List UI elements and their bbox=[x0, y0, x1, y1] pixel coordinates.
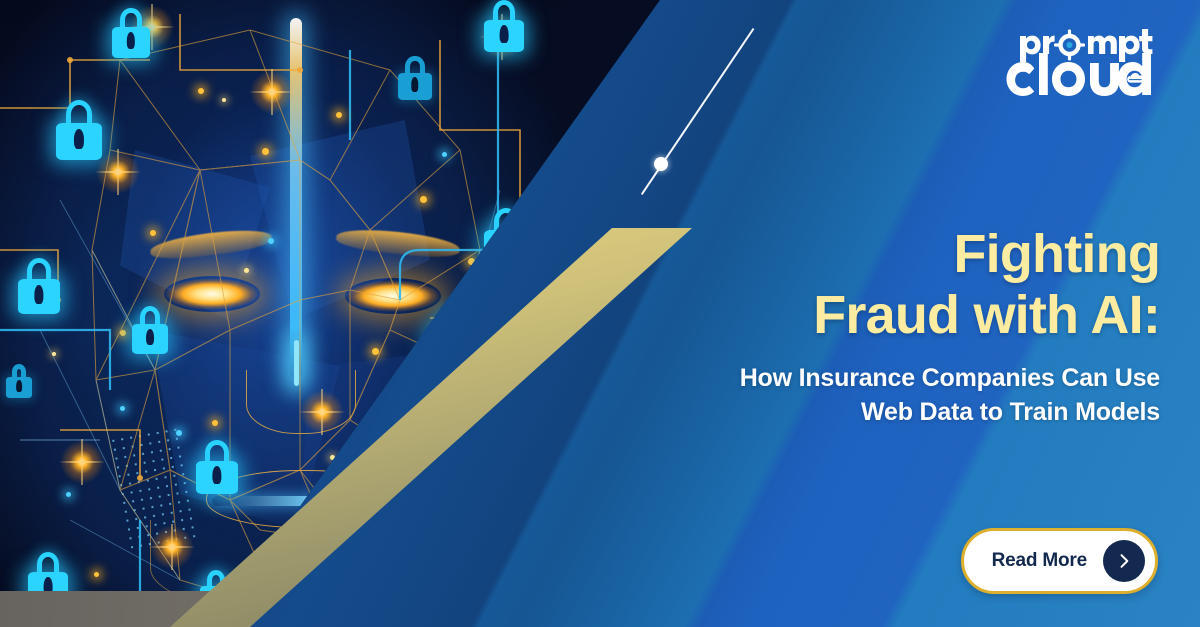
glow-node bbox=[150, 230, 156, 236]
logo-word-cloud bbox=[1007, 53, 1152, 96]
glow-node-cyan bbox=[442, 152, 447, 157]
glow-node bbox=[94, 572, 99, 577]
glow-node-cyan bbox=[268, 238, 274, 244]
glow-starburst bbox=[96, 150, 140, 194]
padlock-icon bbox=[398, 56, 432, 100]
glow-starburst bbox=[250, 70, 294, 114]
page-title: Fighting Fraud with AI: bbox=[600, 224, 1160, 346]
promo-banner: Fighting Fraud with AI: How Insurance Co… bbox=[0, 0, 1200, 627]
subhead-line-1: How Insurance Companies Can Use bbox=[740, 364, 1160, 392]
page-subtitle: How Insurance Companies Can Use Web Data… bbox=[600, 362, 1160, 429]
headline-line-2: Fraud with AI: bbox=[600, 285, 1160, 346]
glow-node bbox=[222, 98, 226, 102]
padlock-icon bbox=[196, 440, 238, 494]
glow-node bbox=[420, 196, 427, 203]
read-more-button[interactable]: Read More bbox=[961, 528, 1158, 594]
pointer-dot bbox=[654, 157, 668, 171]
glow-node bbox=[212, 420, 218, 426]
promptcloud-logo[interactable] bbox=[1002, 22, 1162, 108]
copy-block: Fighting Fraud with AI: How Insurance Co… bbox=[600, 224, 1160, 429]
glow-node bbox=[198, 88, 204, 94]
glow-node-cyan bbox=[120, 406, 125, 411]
glow-node bbox=[336, 112, 342, 118]
subhead-line-2: Web Data to Train Models bbox=[600, 396, 1160, 430]
padlock-icon bbox=[484, 0, 524, 52]
read-more-label: Read More bbox=[992, 550, 1087, 572]
glow-node bbox=[262, 148, 269, 155]
glow-node-cyan bbox=[176, 430, 182, 436]
glow-node bbox=[120, 330, 126, 336]
glow-starburst bbox=[300, 390, 344, 434]
chevron-right-icon bbox=[1103, 540, 1145, 582]
padlock-icon bbox=[18, 258, 60, 314]
glow-starburst bbox=[60, 440, 104, 484]
padlock-icon bbox=[132, 306, 168, 354]
padlock-icon bbox=[112, 8, 150, 58]
padlock-icon bbox=[56, 100, 102, 160]
headline-line-1: Fighting bbox=[953, 224, 1160, 284]
glow-node bbox=[372, 348, 379, 355]
glow-starburst bbox=[150, 525, 194, 569]
padlock-icon bbox=[6, 364, 32, 398]
glow-node-cyan bbox=[66, 492, 71, 497]
glow-node bbox=[52, 352, 56, 356]
glow-node bbox=[244, 268, 249, 273]
